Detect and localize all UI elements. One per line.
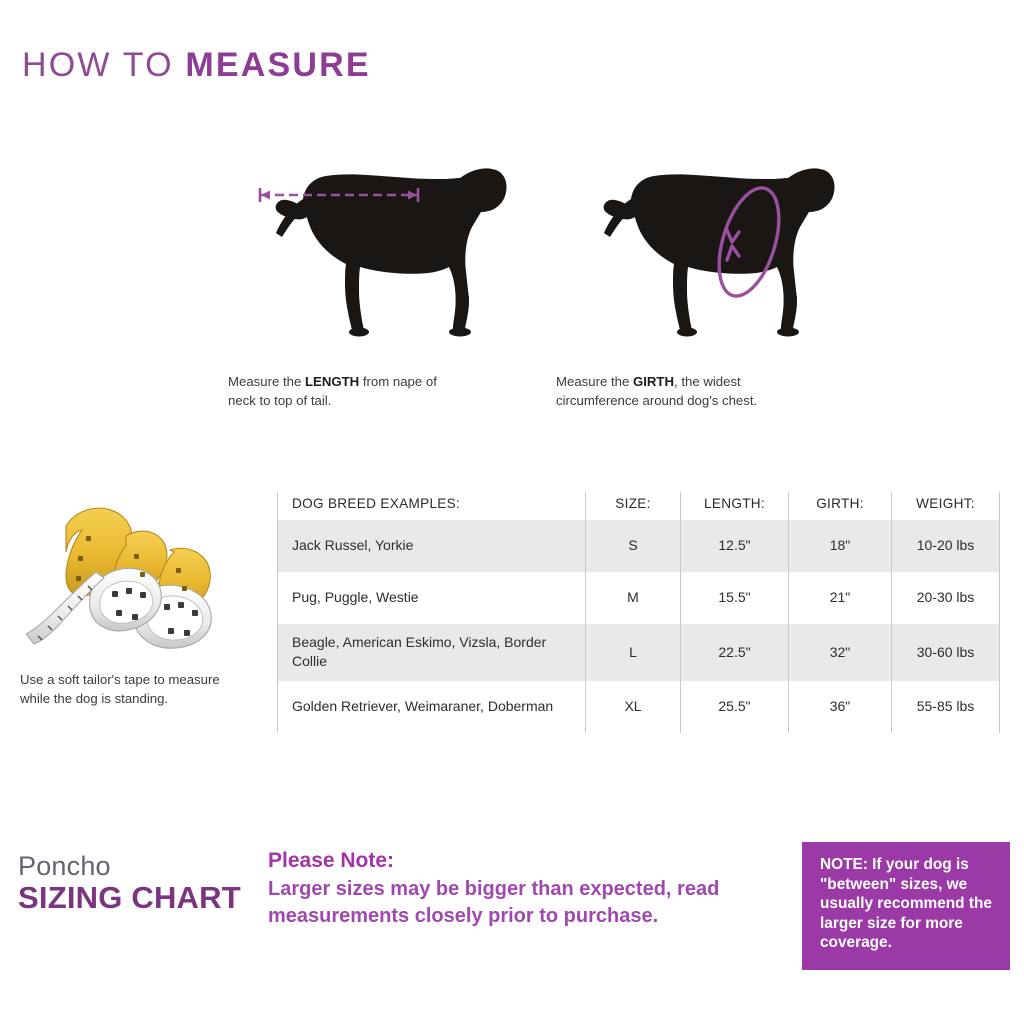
cell-weight: 30-60 lbs: [892, 624, 1000, 681]
dog-silhouette-girth-icon: [556, 160, 876, 365]
brand-block: Poncho SIZING CHART: [18, 852, 268, 916]
tape-measure-block: Use a soft tailor's tape to measure whil…: [8, 492, 248, 708]
page-title-plain: HOW TO: [22, 46, 185, 84]
table-header-row: DOG BREED EXAMPLES: SIZE: LENGTH: GIRTH:…: [278, 492, 1000, 520]
table-row: Beagle, American Eskimo, Vizsla, Border …: [278, 624, 1000, 681]
page-title: HOW TO MEASURE: [22, 46, 371, 85]
cell-breed: Pug, Puggle, Westie: [278, 572, 586, 624]
cell-girth: 32": [789, 624, 892, 681]
table-row: Golden Retriever, Weimaraner, Doberman X…: [278, 681, 1000, 733]
brand-chart-title: SIZING CHART: [18, 880, 268, 916]
please-note-body: Larger sizes may be bigger than expected…: [268, 876, 778, 930]
footer: Poncho SIZING CHART Please Note: Larger …: [0, 820, 1024, 990]
diagram-length: Measure the LENGTH from nape of neck to …: [228, 160, 548, 410]
caption-pre: Measure the: [228, 374, 305, 389]
dog-silhouette-length-stage: [228, 160, 548, 365]
cell-length: 25.5": [681, 681, 789, 733]
diagram-girth-caption: Measure the GIRTH, the widest circumfere…: [556, 373, 781, 410]
diagram-girth: Measure the GIRTH, the widest circumfere…: [556, 160, 876, 410]
page-title-strong: MEASURE: [185, 46, 370, 84]
table-row: Jack Russel, Yorkie S 12.5" 18" 10-20 lb…: [278, 520, 1000, 572]
table-header-girth: GIRTH:: [789, 492, 892, 520]
cell-breed: Jack Russel, Yorkie: [278, 520, 586, 572]
cell-girth: 36": [789, 681, 892, 733]
please-note-title: Please Note:: [268, 848, 778, 873]
table-header-breed: DOG BREED EXAMPLES:: [278, 492, 586, 520]
note-callout-box: NOTE: If your dog is "between" sizes, we…: [802, 842, 1010, 970]
caption-pre: Measure the: [556, 374, 633, 389]
tape-measure-caption: Use a soft tailor's tape to measure whil…: [20, 670, 220, 708]
caption-keyword: LENGTH: [305, 374, 359, 389]
cell-size: XL: [586, 681, 681, 733]
diagram-length-caption: Measure the LENGTH from nape of neck to …: [228, 373, 453, 410]
caption-keyword: GIRTH: [633, 374, 674, 389]
cell-girth: 18": [789, 520, 892, 572]
dog-silhouette-girth-stage: [556, 160, 876, 365]
cell-size: M: [586, 572, 681, 624]
cell-weight: 20-30 lbs: [892, 572, 1000, 624]
cell-size: S: [586, 520, 681, 572]
tape-measure-icon: [8, 492, 240, 664]
table-header-size: SIZE:: [586, 492, 681, 520]
table-row: Pug, Puggle, Westie M 15.5" 21" 20-30 lb…: [278, 572, 1000, 624]
cell-girth: 21": [789, 572, 892, 624]
size-table-wrapper: DOG BREED EXAMPLES: SIZE: LENGTH: GIRTH:…: [277, 492, 999, 733]
dog-silhouette-length-icon: [228, 160, 548, 365]
cell-weight: 10-20 lbs: [892, 520, 1000, 572]
size-table: DOG BREED EXAMPLES: SIZE: LENGTH: GIRTH:…: [277, 492, 1000, 733]
table-header-length: LENGTH:: [681, 492, 789, 520]
measurement-diagrams: Measure the LENGTH from nape of neck to …: [0, 160, 1024, 470]
cell-length: 12.5": [681, 520, 789, 572]
cell-size: L: [586, 624, 681, 681]
cell-breed: Beagle, American Eskimo, Vizsla, Border …: [278, 624, 586, 681]
cell-length: 15.5": [681, 572, 789, 624]
please-note-block: Please Note: Larger sizes may be bigger …: [268, 848, 778, 930]
cell-breed: Golden Retriever, Weimaraner, Doberman: [278, 681, 586, 733]
table-header-weight: WEIGHT:: [892, 492, 1000, 520]
brand-product-name: Poncho: [18, 852, 268, 880]
cell-weight: 55-85 lbs: [892, 681, 1000, 733]
note-callout-text: NOTE: If your dog is "between" sizes, we…: [820, 855, 996, 953]
cell-length: 22.5": [681, 624, 789, 681]
